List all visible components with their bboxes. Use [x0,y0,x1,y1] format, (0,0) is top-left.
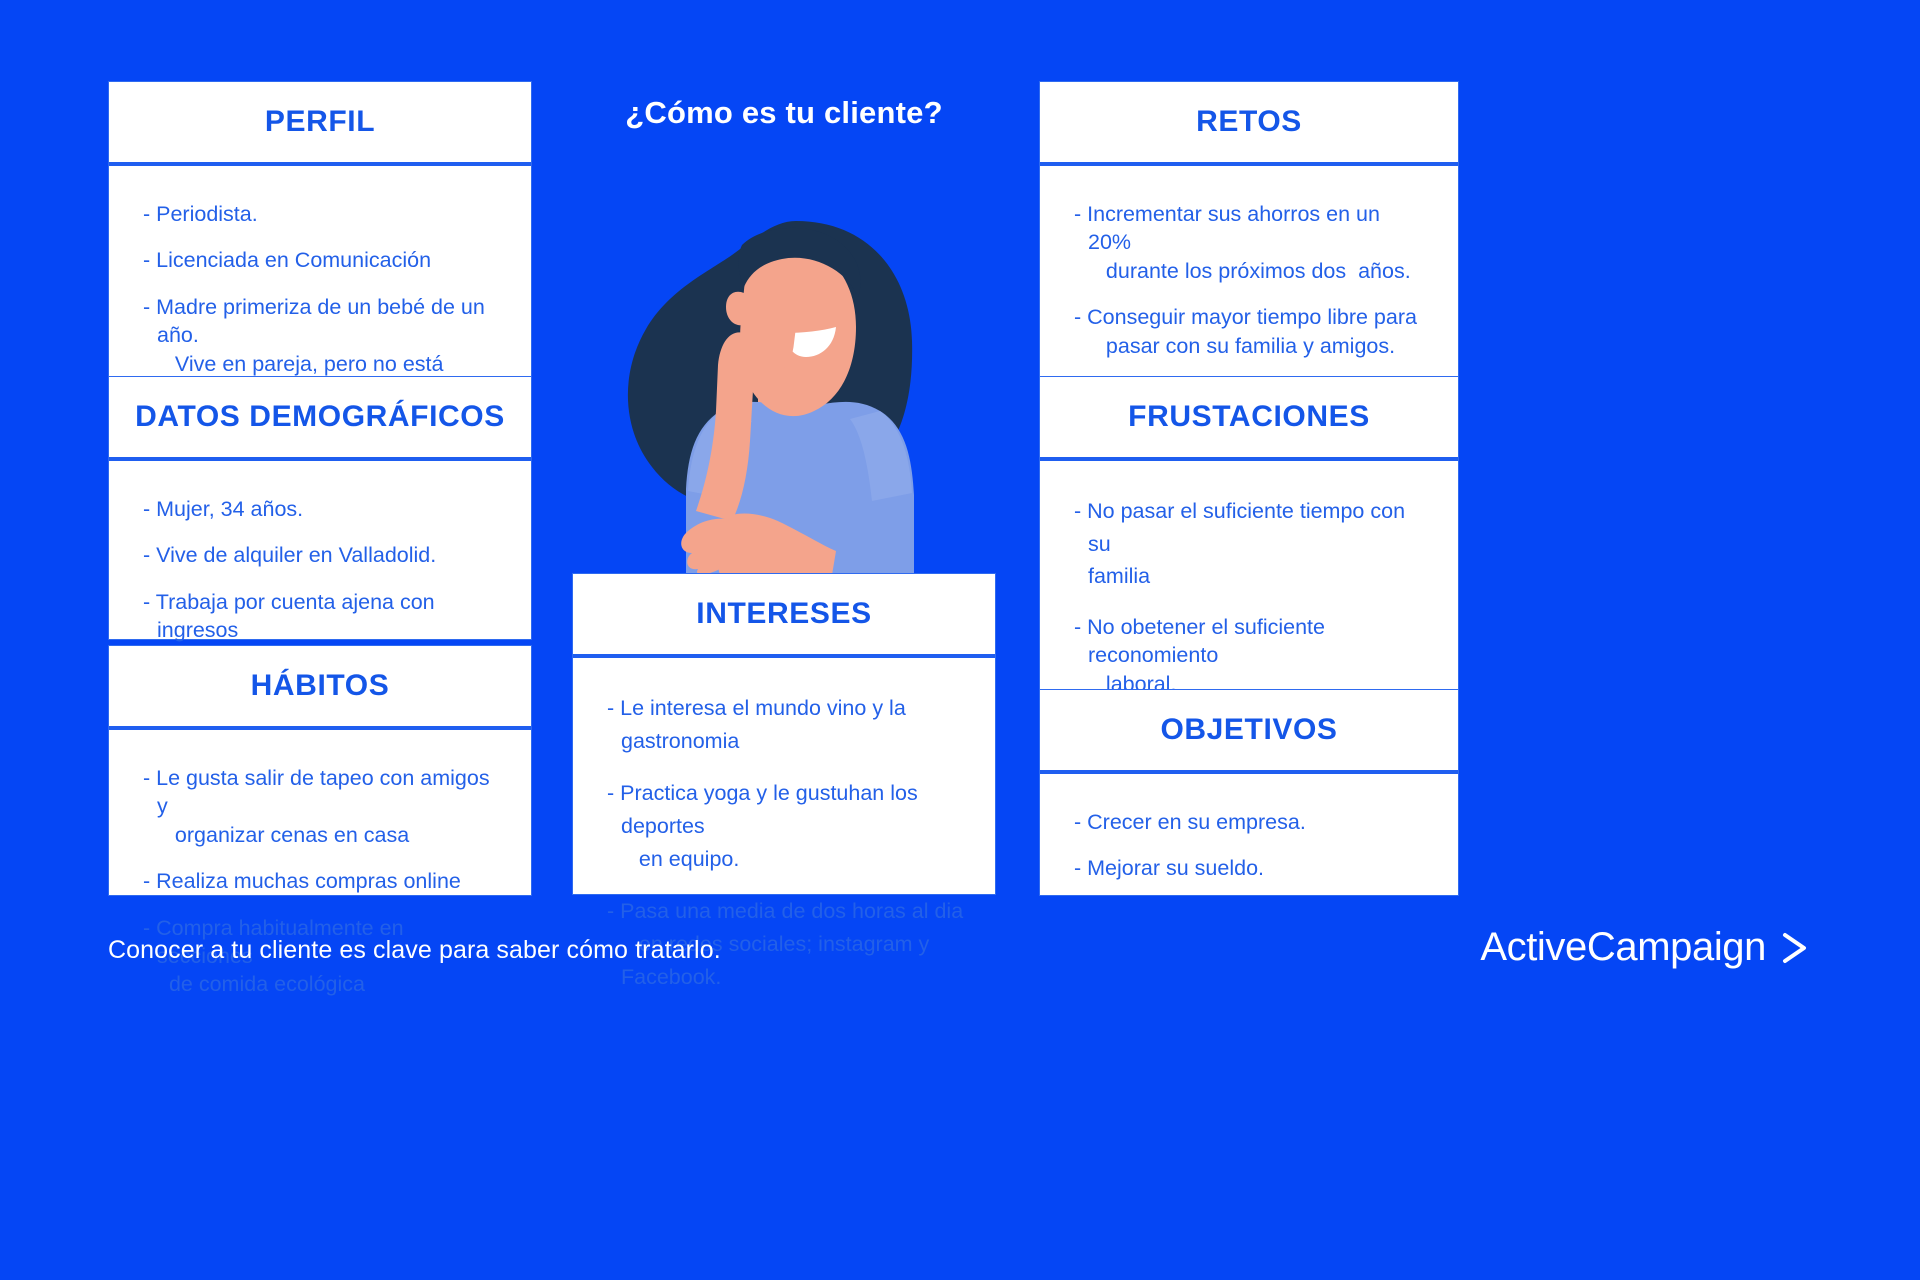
panel-intereses-body: - Le interesa el mundo vino y la gastron… [573,658,995,1033]
list-item: - Le gusta salir de tapeo con amigos y o… [143,764,501,849]
panel-habitos: HÁBITOS - Le gusta salir de tapeo con am… [108,645,532,896]
panel-perfil-header: PERFIL [109,82,531,166]
panel-habitos-header: HÁBITOS [109,646,531,730]
panel-objetivos: OBJETIVOS - Crecer en su empresa. - Mejo… [1039,689,1459,896]
panel-frustaciones-header: FRUSTACIONES [1040,377,1458,461]
panel-retos-header: RETOS [1040,82,1458,166]
panel-objetivos-header: OBJETIVOS [1040,690,1458,774]
panel-perfil: PERFIL - Periodista. - Licenciada en Com… [108,81,532,377]
panel-habitos-title: HÁBITOS [251,669,390,703]
panel-objetivos-body: - Crecer en su empresa. - Mejorar su sue… [1040,774,1458,903]
infographic-canvas: ¿Cómo es tu cliente? [0,0,1920,1280]
panel-perfil-title: PERFIL [265,105,375,139]
panel-objetivos-title: OBJETIVOS [1160,713,1337,747]
panel-retos: RETOS - Incrementar sus ahorros en un 20… [1039,81,1459,377]
page-title: ¿Cómo es tu cliente? [572,95,996,131]
list-item: - Crecer en su empresa. [1074,808,1428,836]
list-item: - Practica yoga y le gustuhan los deport… [607,777,965,875]
list-item: - Mujer, 34 años. [143,495,501,523]
chevron-right-icon [1780,931,1810,965]
panel-habitos-body: - Le gusta salir de tapeo con amigos y o… [109,730,531,1019]
list-item: - Vive de alquiler en Valladolid. [143,541,501,569]
list-item: - Periodista. [143,200,501,228]
woman-persona-illustration [600,215,970,575]
list-item: - Conseguir mayor tiempo libre para pasa… [1074,303,1428,360]
brand-name: ActiveCampaign [1480,925,1766,970]
list-item: - Incrementar sus ahorros en un 20% dura… [1074,200,1428,285]
footer-note: Conocer a tu cliente es clave para saber… [108,936,721,965]
list-item: - No pasar el suficiente tiempo con su f… [1074,495,1428,593]
panel-intereses: INTERESES - Le interesa el mundo vino y … [572,573,996,895]
list-item: - Mejorar su sueldo. [1074,854,1428,882]
panel-intereses-header: INTERESES [573,574,995,658]
panel-frustaciones: FRUSTACIONES - No pasar el suficiente ti… [1039,376,1459,690]
list-item: - No obetener el suficiente reconomiento… [1074,613,1428,698]
panel-datos-demograficos-title: DATOS DEMOGRÁFICOS [135,400,505,434]
panel-datos-demograficos: DATOS DEMOGRÁFICOS - Mujer, 34 años. - V… [108,376,532,640]
panel-retos-title: RETOS [1196,105,1302,139]
panel-datos-demograficos-header: DATOS DEMOGRÁFICOS [109,377,531,461]
panel-frustaciones-title: FRUSTACIONES [1128,400,1370,434]
brand-logo: ActiveCampaign [1480,925,1810,970]
panel-retos-body: - Incrementar sus ahorros en un 20% dura… [1040,166,1458,380]
list-item: - Le interesa el mundo vino y la gastron… [607,692,965,757]
panel-intereses-title: INTERESES [696,597,871,631]
list-item: - Realiza muchas compras online [143,867,501,895]
list-item: - Licenciada en Comunicación [143,246,501,274]
